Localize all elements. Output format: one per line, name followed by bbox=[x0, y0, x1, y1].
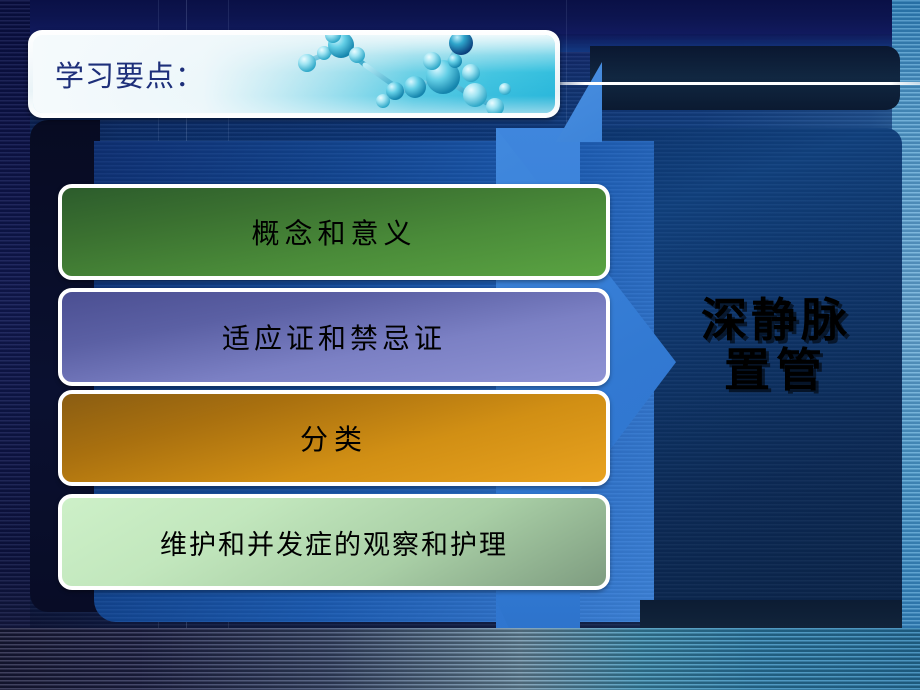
background-top-band bbox=[0, 0, 920, 34]
background-left-gutter-texture bbox=[0, 0, 30, 690]
outline-item-1[interactable]: 概念和意义 bbox=[58, 184, 610, 280]
outline-item-label: 概念和意义 bbox=[251, 212, 416, 252]
outline-item-label: 适应证和禁忌证 bbox=[222, 317, 446, 357]
outline-item-label: 分类 bbox=[300, 418, 368, 458]
molecule-icon bbox=[291, 35, 551, 113]
title-banner: 学习要点： bbox=[28, 30, 560, 118]
slide-canvas: 学习要点： 概念和意义 适应证和禁忌证 分类 维护和并发症的观察和护理 深静脉 … bbox=[0, 0, 920, 690]
outline-item-3[interactable]: 分类 bbox=[58, 390, 610, 486]
title-banner-inner: 学习要点： bbox=[33, 35, 555, 113]
outline-item-4[interactable]: 维护和并发症的观察和护理 bbox=[58, 494, 610, 590]
callout-heading: 深静脉 置管 bbox=[668, 296, 884, 395]
outline-item-2[interactable]: 适应证和禁忌证 bbox=[58, 288, 610, 386]
decorative-white-rule bbox=[556, 82, 920, 85]
callout-heading-line2: 置管 bbox=[668, 346, 884, 396]
callout-heading-line1: 深静脉 bbox=[668, 296, 884, 346]
page-title: 学习要点： bbox=[55, 53, 205, 95]
decorative-top-right-bar bbox=[590, 46, 900, 110]
background-bottom-strip-texture bbox=[0, 628, 920, 690]
outline-item-label: 维护和并发症的观察和护理 bbox=[160, 523, 508, 562]
